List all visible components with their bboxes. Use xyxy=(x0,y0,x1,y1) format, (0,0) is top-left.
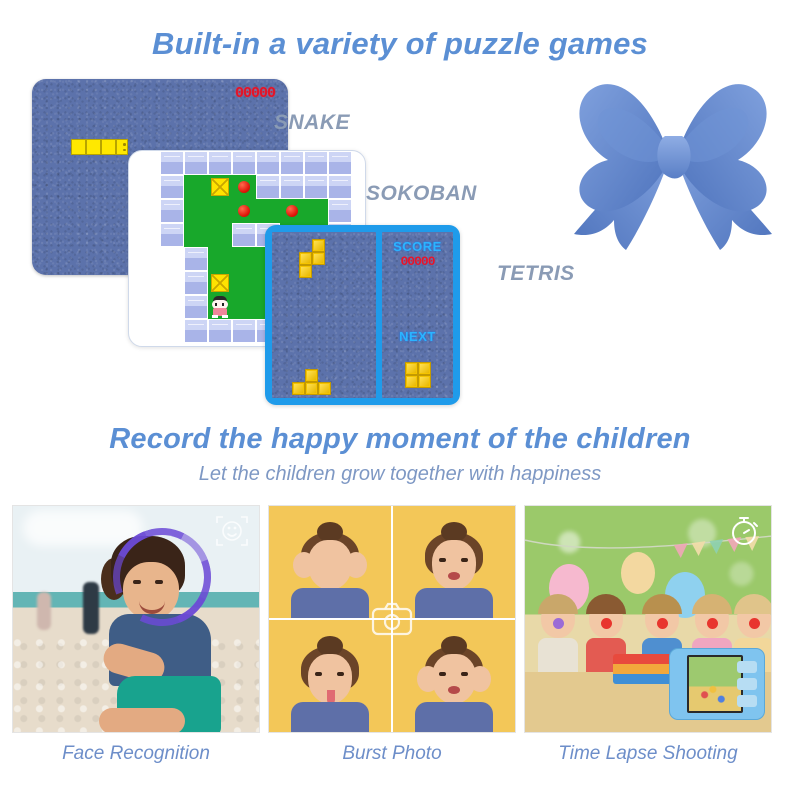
head-shape xyxy=(737,600,771,638)
game-label-tetris: TETRIS xyxy=(497,262,575,286)
sokoban-void-tile xyxy=(160,247,184,271)
snake-head xyxy=(116,139,128,155)
games-headline: Built-in a variety of puzzle games xyxy=(0,26,800,62)
sokoban-wall-tile xyxy=(184,319,208,343)
tetris-game-screen: SCORE 00000 NEXT xyxy=(265,225,460,405)
smiley-face-detect-icon xyxy=(215,514,249,548)
head-shape xyxy=(695,600,729,638)
sokoban-wall-tile xyxy=(184,151,208,175)
tetris-score-label: SCORE xyxy=(382,239,453,254)
record-headline: Record the happy moment of the children xyxy=(0,423,800,456)
eye-shape xyxy=(315,672,322,676)
sokoban-wall-tile xyxy=(256,151,280,175)
tetris-playfield xyxy=(272,232,376,398)
hair-bun xyxy=(441,522,467,542)
tetris-block xyxy=(312,239,325,252)
hair-bun xyxy=(317,636,343,656)
clown-nose xyxy=(749,618,760,629)
sokoban-wall-tile xyxy=(328,175,352,199)
photo-beach-boy xyxy=(12,505,260,733)
feature-card-time-lapse: Time Lapse Shooting xyxy=(524,505,772,765)
sokoban-floor-tile xyxy=(208,271,232,295)
sokoban-goal xyxy=(286,205,298,217)
tetris-block xyxy=(318,382,331,395)
clown-nose xyxy=(601,618,612,629)
sokoban-wall-tile xyxy=(232,151,256,175)
sokoban-void-tile xyxy=(160,295,184,319)
sokoban-floor-tile xyxy=(184,199,208,223)
sokoban-floor-tile xyxy=(280,199,304,223)
background-person xyxy=(37,592,51,630)
snake-segment xyxy=(101,139,116,155)
tetris-next-label: NEXT xyxy=(382,329,453,344)
sokoban-wall-tile xyxy=(160,151,184,175)
sokoban-floor-tile xyxy=(208,247,232,271)
hair-bun xyxy=(441,636,467,656)
sokoban-wall-tile xyxy=(280,151,304,175)
device-screen-image xyxy=(689,657,741,711)
sokoban-floor-tile xyxy=(232,295,256,319)
snake-segment xyxy=(71,139,86,155)
sokoban-wall-tile xyxy=(184,247,208,271)
shirt-shape xyxy=(291,702,369,732)
sokoban-floor-tile xyxy=(304,199,328,223)
device-button[interactable] xyxy=(737,661,757,673)
mouth-shape xyxy=(448,572,460,580)
sokoban-floor-tile xyxy=(208,175,232,199)
eye-shape xyxy=(461,672,468,676)
sokoban-floor-tile xyxy=(184,175,208,199)
sokoban-wall-tile xyxy=(184,271,208,295)
device-button[interactable] xyxy=(737,695,757,707)
child-subject xyxy=(411,526,497,618)
tetris-next-block xyxy=(418,362,431,375)
game-label-snake: SNAKE xyxy=(274,111,350,135)
birthday-cake xyxy=(613,654,677,684)
sokoban-goal xyxy=(238,181,250,193)
sokoban-wall-tile xyxy=(328,151,352,175)
sokoban-wall-tile xyxy=(208,151,232,175)
sokoban-floor-tile xyxy=(184,223,208,247)
game-label-sokoban: SOKOBAN xyxy=(366,182,477,206)
sokoban-box xyxy=(211,274,229,292)
tetris-block xyxy=(312,252,325,265)
sokoban-wall-tile xyxy=(160,175,184,199)
eye-shape xyxy=(439,672,446,676)
sokoban-wall-tile xyxy=(304,175,328,199)
tetris-info-panel: SCORE 00000 NEXT xyxy=(382,232,453,398)
shirt-shape xyxy=(291,588,369,618)
device-button[interactable] xyxy=(737,678,757,690)
snake-segment xyxy=(86,139,101,155)
sokoban-floor-tile xyxy=(208,199,232,223)
burst-frame xyxy=(393,620,515,732)
sokoban-box xyxy=(211,178,229,196)
sokoban-floor-tile xyxy=(232,247,256,271)
tetris-block xyxy=(305,369,318,382)
eye-shape xyxy=(439,558,446,562)
child-subject xyxy=(287,640,373,732)
record-subhead: Let the children grow together with happ… xyxy=(0,463,800,486)
sokoban-floor-tile xyxy=(256,199,280,223)
eye-shape xyxy=(337,672,344,676)
camera-icon xyxy=(371,602,413,636)
hand-shape xyxy=(417,666,439,692)
tetris-block xyxy=(292,382,305,395)
tetris-next-block xyxy=(405,375,418,388)
tetris-block xyxy=(299,265,312,278)
sokoban-wall-tile xyxy=(232,223,256,247)
sokoban-wall-tile xyxy=(256,175,280,199)
hand-shape xyxy=(293,552,315,578)
child-subject xyxy=(541,600,578,678)
stopwatch-icon xyxy=(727,514,761,548)
sokoban-floor-tile xyxy=(208,295,232,319)
kids-camera-device xyxy=(669,648,765,720)
sokoban-floor-tile xyxy=(232,175,256,199)
child-subject xyxy=(287,526,373,618)
sokoban-void-tile xyxy=(160,271,184,295)
feature-card-face-recognition: Face Recognition xyxy=(12,505,260,765)
sokoban-wall-tile xyxy=(328,199,352,223)
tetris-next-block xyxy=(418,375,431,388)
photo-burst-grid xyxy=(268,505,516,733)
sokoban-goal xyxy=(238,205,250,217)
tetris-block xyxy=(299,252,312,265)
sokoban-floor-tile xyxy=(208,223,232,247)
sokoban-wall-tile xyxy=(160,223,184,247)
shirt-shape xyxy=(415,702,493,732)
head-shape xyxy=(541,600,575,638)
burst-frame xyxy=(269,620,391,732)
sokoban-wall-tile xyxy=(232,319,256,343)
photo-caption: Time Lapse Shooting xyxy=(524,743,772,765)
head-shape xyxy=(645,600,679,638)
tetris-score-value: 00000 xyxy=(382,254,453,269)
sokoban-wall-tile xyxy=(280,175,304,199)
eye-shape xyxy=(461,558,468,562)
sokoban-void-tile xyxy=(160,319,184,343)
snake-score-value: 00000 xyxy=(235,85,275,102)
tetris-next-block xyxy=(405,362,418,375)
balloon-shape xyxy=(621,552,655,594)
shirt-shape xyxy=(415,588,493,618)
sokoban-player xyxy=(211,296,229,318)
sokoban-floor-tile xyxy=(232,199,256,223)
sokoban-wall-tile xyxy=(208,319,232,343)
child-subject xyxy=(411,640,497,732)
sokoban-floor-tile xyxy=(232,271,256,295)
photo-caption: Face Recognition xyxy=(12,743,260,765)
photo-caption: Burst Photo xyxy=(268,743,516,765)
feature-card-burst-photo: Burst Photo xyxy=(268,505,516,765)
hand-shape xyxy=(469,666,491,692)
leg-shape xyxy=(99,708,185,733)
promo-page: Built-in a variety of puzzle games 00000 xyxy=(0,0,800,800)
mouth-shape xyxy=(448,686,460,694)
hand-shape xyxy=(345,552,367,578)
clown-nose xyxy=(553,618,564,629)
photo-birthday-party xyxy=(524,505,772,733)
device-buttons[interactable] xyxy=(735,661,759,709)
sokoban-wall-tile xyxy=(304,151,328,175)
sokoban-wall-tile xyxy=(160,199,184,223)
ribbon-bow-icon xyxy=(548,62,798,257)
sokoban-wall-tile xyxy=(184,295,208,319)
hair-bun xyxy=(317,522,343,542)
head-shape xyxy=(589,600,623,638)
snake-sprite xyxy=(71,139,128,155)
face-shape xyxy=(432,540,476,590)
clown-nose xyxy=(707,618,718,629)
tetris-block xyxy=(305,382,318,395)
feature-photo-row: Face Recognition xyxy=(0,505,800,800)
clown-nose xyxy=(657,618,668,629)
